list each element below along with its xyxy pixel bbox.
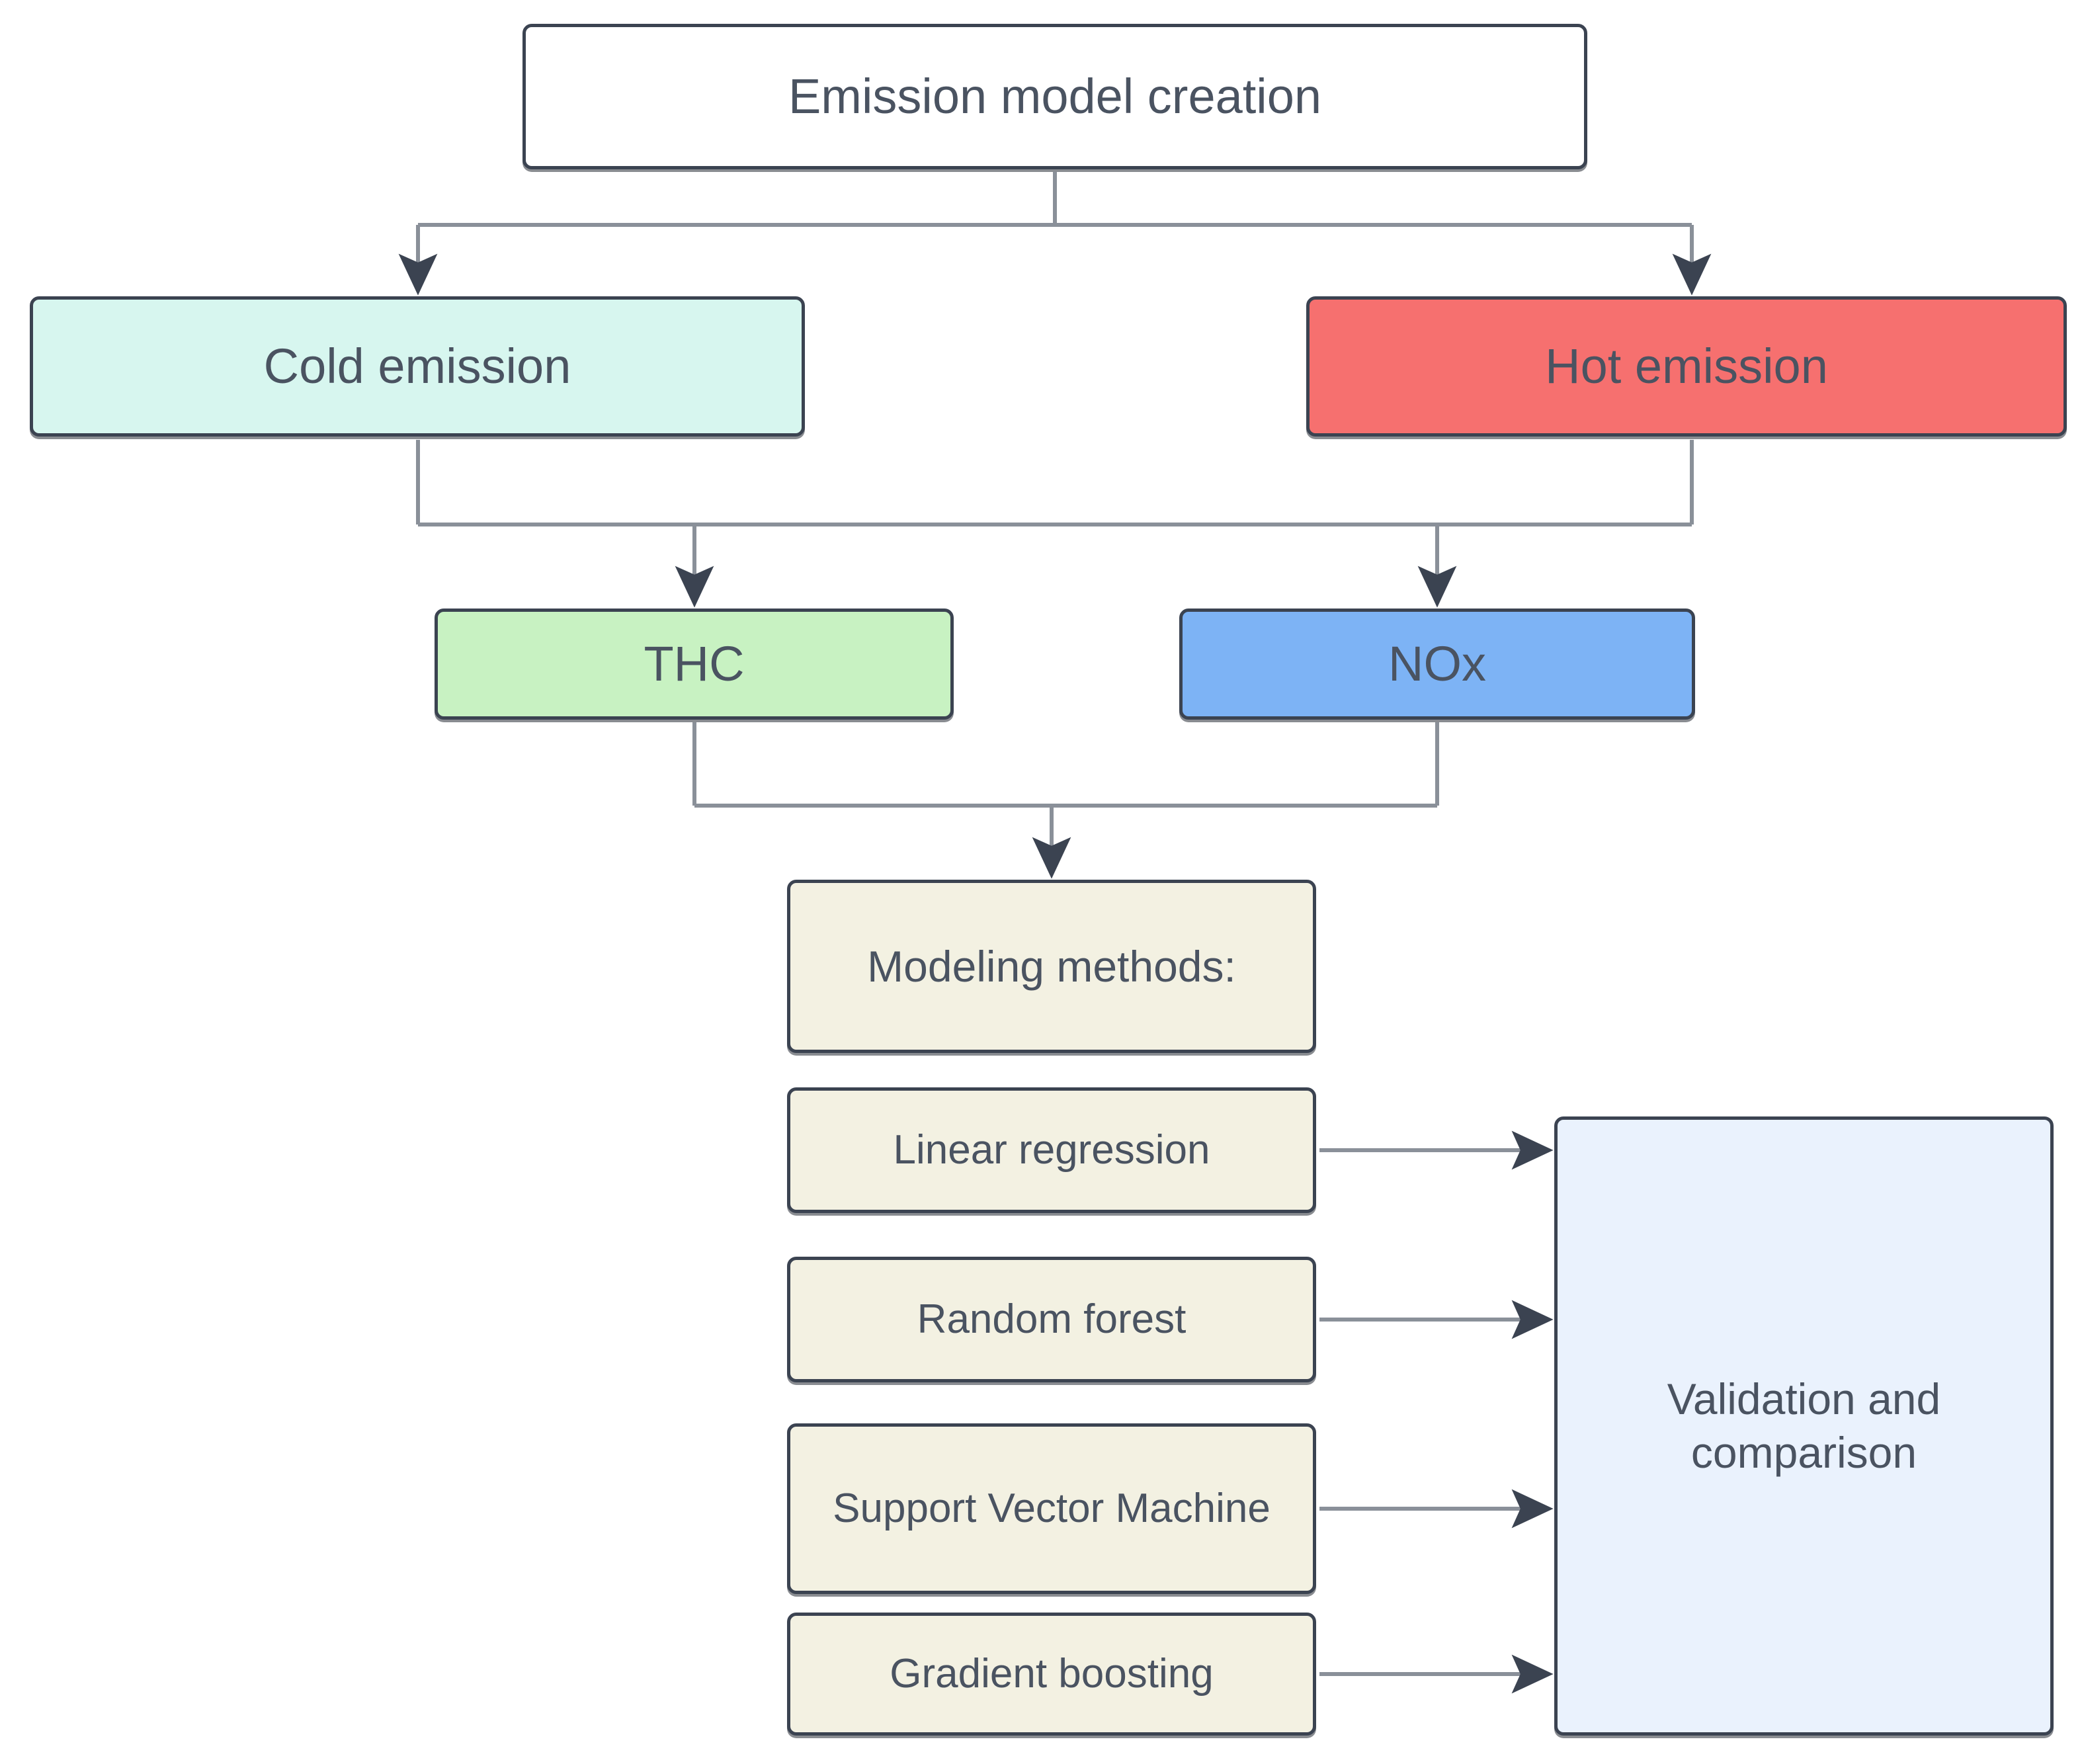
node-modeling-methods[interactable]: Modeling methods:	[787, 880, 1316, 1053]
node-label: Random forest	[905, 1294, 1198, 1345]
node-label: Emission model creation	[776, 67, 1333, 126]
node-support-vector-machine[interactable]: Support Vector Machine	[787, 1423, 1316, 1594]
node-label: Linear regression	[881, 1125, 1222, 1175]
node-random-forest[interactable]: Random forest	[787, 1257, 1316, 1382]
node-emission-model-creation[interactable]: Emission model creation	[522, 24, 1587, 169]
node-label: THC	[632, 634, 756, 694]
flowchart-canvas: Emission model creation Cold emission Ho…	[0, 0, 2084, 1764]
node-validation-and-comparison[interactable]: Validation and comparison	[1554, 1116, 2054, 1736]
node-nox[interactable]: NOx	[1179, 609, 1695, 720]
node-label: Cold emission	[252, 337, 583, 396]
node-label: Modeling methods:	[855, 940, 1248, 993]
node-cold-emission[interactable]: Cold emission	[30, 296, 805, 437]
node-gradient-boosting[interactable]: Gradient boosting	[787, 1613, 1316, 1736]
node-hot-emission[interactable]: Hot emission	[1306, 296, 2067, 437]
node-linear-regression[interactable]: Linear regression	[787, 1087, 1316, 1213]
node-label: Validation and comparison	[1558, 1372, 2050, 1479]
node-label: Hot emission	[1533, 337, 1840, 396]
node-thc[interactable]: THC	[435, 609, 954, 720]
node-label: NOx	[1376, 634, 1498, 694]
node-label: Gradient boosting	[878, 1649, 1225, 1699]
node-label: Support Vector Machine	[821, 1484, 1282, 1534]
